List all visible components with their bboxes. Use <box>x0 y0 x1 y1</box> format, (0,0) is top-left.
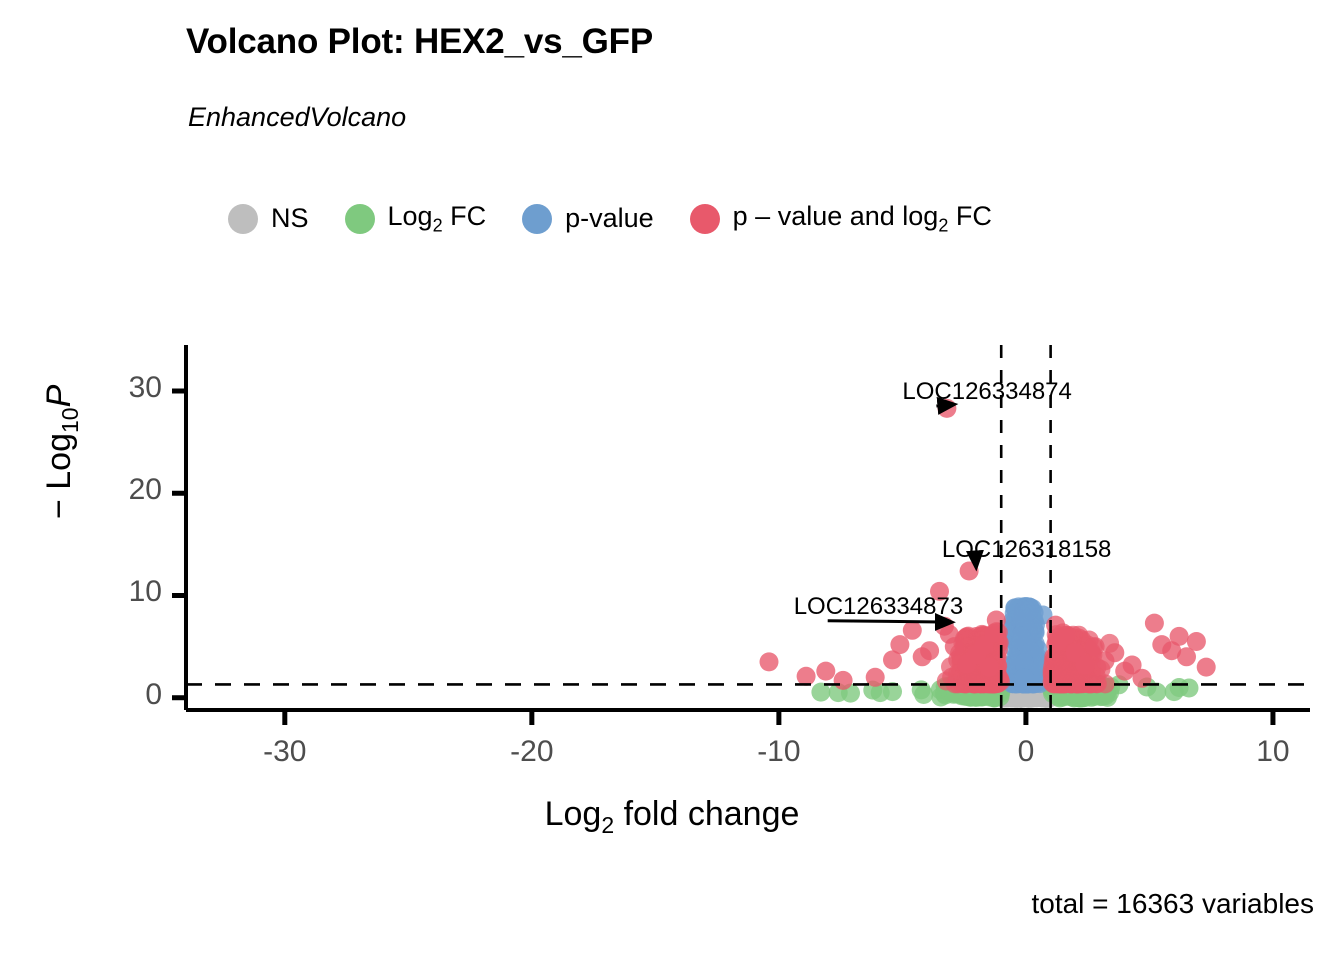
y-axis-title-sub: 10 <box>57 407 83 433</box>
total-variables-caption: total = 16363 variables <box>1031 888 1314 920</box>
data-point <box>1187 632 1206 651</box>
label-connector-2 <box>828 621 952 622</box>
data-point <box>797 667 816 686</box>
data-point <box>987 611 1006 630</box>
data-point <box>1054 661 1073 680</box>
y-axis-title-main: − Log <box>40 433 78 519</box>
x-tick-label-4: 10 <box>1213 735 1333 769</box>
y-tick-label-0: 0 <box>72 678 162 712</box>
y-tick-label-1: 10 <box>72 575 162 609</box>
point-label-LOC126318158: LOC126318158 <box>942 536 1111 564</box>
label-connectors <box>828 404 976 622</box>
x-tick-label-2: -10 <box>719 735 839 769</box>
data-point <box>1105 643 1124 662</box>
data-point <box>760 652 779 671</box>
data-point <box>1170 678 1189 697</box>
data-point <box>1046 616 1065 635</box>
volcano-plot-figure: Volcano Plot: HEX2_vs_GFP EnhancedVolcan… <box>0 0 1344 960</box>
data-point <box>1076 656 1095 675</box>
data-point <box>945 637 964 656</box>
point-label-LOC126334874: LOC126334874 <box>902 378 1071 406</box>
y-tick-label-3: 30 <box>72 371 162 405</box>
data-point <box>816 662 835 681</box>
data-point <box>1145 614 1164 633</box>
x-axis-title-main: Log <box>545 795 602 833</box>
y-tick-label-2: 20 <box>72 473 162 507</box>
data-point <box>920 641 939 660</box>
x-tick-label-3: 0 <box>966 735 1086 769</box>
data-point <box>1020 600 1039 619</box>
axis-lines <box>186 345 1310 710</box>
x-tick-label-0: -30 <box>225 735 345 769</box>
x-tick-label-1: -20 <box>472 735 592 769</box>
data-point <box>979 658 998 677</box>
x-axis-title: Log2 fold change <box>0 795 1344 839</box>
data-point <box>834 671 853 690</box>
x-axis-title-sub: 2 <box>601 812 614 838</box>
data-point <box>914 685 933 704</box>
x-axis-title-tail: fold change <box>614 795 799 833</box>
threshold-lines <box>186 345 1310 710</box>
data-point <box>1170 627 1189 646</box>
y-axis-title: − Log10P <box>40 272 84 632</box>
data-point <box>1011 627 1030 646</box>
data-point <box>1197 658 1216 677</box>
y-axis-title-tail: P <box>40 385 78 408</box>
point-label-LOC126334873: LOC126334873 <box>794 593 963 621</box>
data-point <box>890 635 909 654</box>
data-point <box>903 621 922 640</box>
